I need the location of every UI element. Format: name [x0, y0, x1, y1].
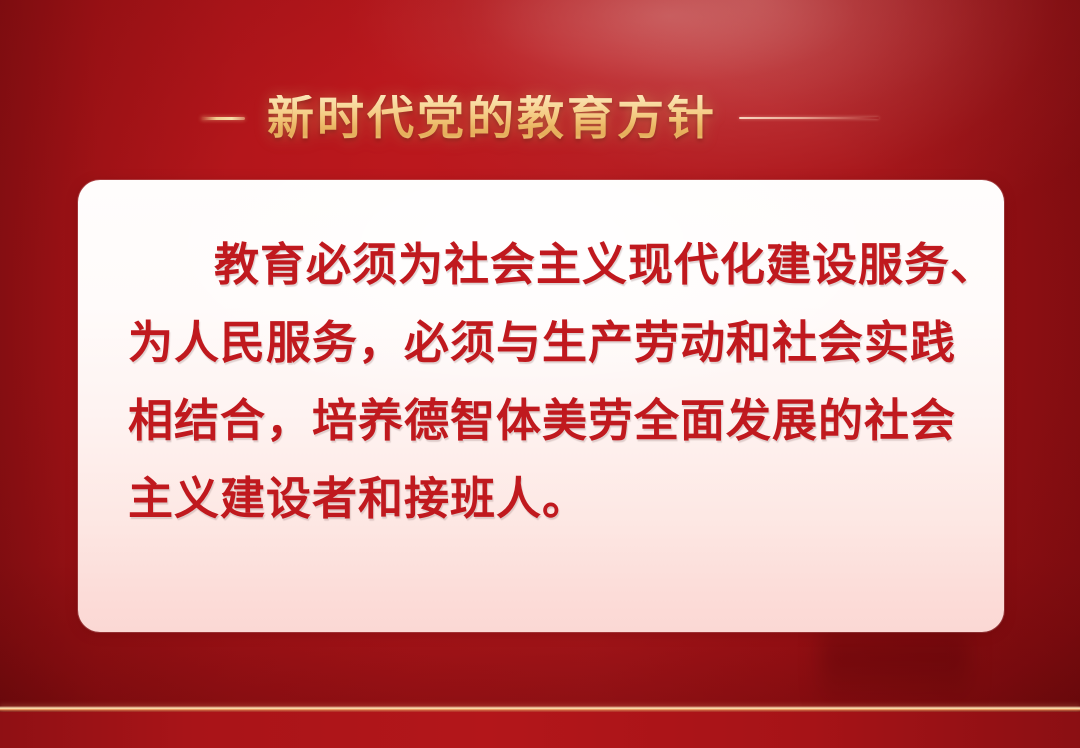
page-title: 新时代党的教育方针	[267, 95, 717, 142]
content-card: 教育必须为社会主义现代化建设服务、 为人民服务，必须与生产劳动和社会实践 相结合…	[78, 180, 1004, 632]
left-dash-icon	[201, 117, 245, 120]
right-dash-icon	[739, 117, 879, 119]
title-banner: 新时代党的教育方针	[0, 84, 1080, 152]
policy-line-2: 为人民服务，必须与生产劳动和社会实践	[128, 304, 968, 382]
gold-divider-line	[0, 706, 1080, 712]
policy-line-3: 相结合，培养德智体美劳全面发展的社会	[128, 382, 968, 460]
policy-line-4: 主义建设者和接班人。	[128, 460, 968, 538]
policy-text-block: 教育必须为社会主义现代化建设服务、 为人民服务，必须与生产劳动和社会实践 相结合…	[128, 226, 968, 538]
policy-line-1: 教育必须为社会主义现代化建设服务、	[128, 226, 968, 304]
bottom-band	[0, 712, 1080, 748]
poster-canvas: 新时代党的教育方针 教育必须为社会主义现代化建设服务、 为人民服务，必须与生产劳…	[0, 0, 1080, 748]
